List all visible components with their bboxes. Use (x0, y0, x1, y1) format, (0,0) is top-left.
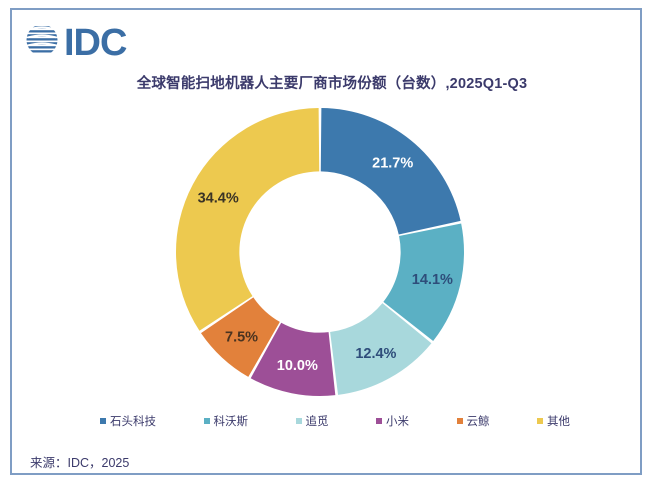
donut-slice-label: 14.1% (412, 272, 453, 288)
legend-item[interactable]: 追觅 (296, 413, 329, 429)
donut-chart-svg: 21.7%14.1%12.4%10.0%7.5%34.4% (175, 107, 465, 397)
legend-item[interactable]: 小米 (376, 413, 409, 429)
legend-item[interactable]: 科沃斯 (204, 413, 249, 429)
legend-item[interactable]: 云鲸 (457, 413, 490, 429)
legend-swatch-icon (204, 418, 210, 424)
donut-slice-label: 21.7% (372, 155, 413, 171)
legend-label: 科沃斯 (214, 413, 249, 429)
frame-border-bottom (10, 473, 642, 475)
donut-slice-label: 10.0% (277, 358, 318, 374)
legend-swatch-icon (296, 418, 302, 424)
legend-swatch-icon (537, 418, 543, 424)
legend-swatch-icon (100, 418, 106, 424)
donut-slice-label: 7.5% (225, 330, 258, 346)
donut-slice[interactable] (176, 108, 319, 331)
idc-logo: IDC (22, 20, 126, 65)
legend-label: 小米 (386, 413, 409, 429)
idc-globe-icon (22, 20, 62, 65)
idc-logo-text: IDC (64, 24, 126, 62)
donut-slice-label: 34.4% (198, 191, 239, 207)
donut-slices (176, 108, 464, 396)
legend-label: 其他 (547, 413, 570, 429)
source-note: 来源：IDC，2025 (30, 452, 129, 471)
chart-legend: 石头科技科沃斯追觅小米云鲸其他 (100, 413, 570, 429)
legend-label: 云鲸 (467, 413, 490, 429)
chart-page: IDC 全球智能扫地机器人主要厂商市场份额（台数）,2025Q1-Q3 21.7… (0, 0, 650, 484)
legend-item[interactable]: 石头科技 (100, 413, 156, 429)
legend-swatch-icon (457, 418, 463, 424)
legend-label: 追觅 (306, 413, 329, 429)
legend-label: 石头科技 (110, 413, 156, 429)
legend-item[interactable]: 其他 (537, 413, 570, 429)
frame-border-top (10, 8, 642, 10)
donut-chart: 21.7%14.1%12.4%10.0%7.5%34.4% (175, 107, 465, 397)
page-title: 全球智能扫地机器人主要厂商市场份额（台数）,2025Q1-Q3 (0, 72, 650, 93)
donut-slice-label: 12.4% (355, 346, 396, 362)
legend-swatch-icon (376, 418, 382, 424)
